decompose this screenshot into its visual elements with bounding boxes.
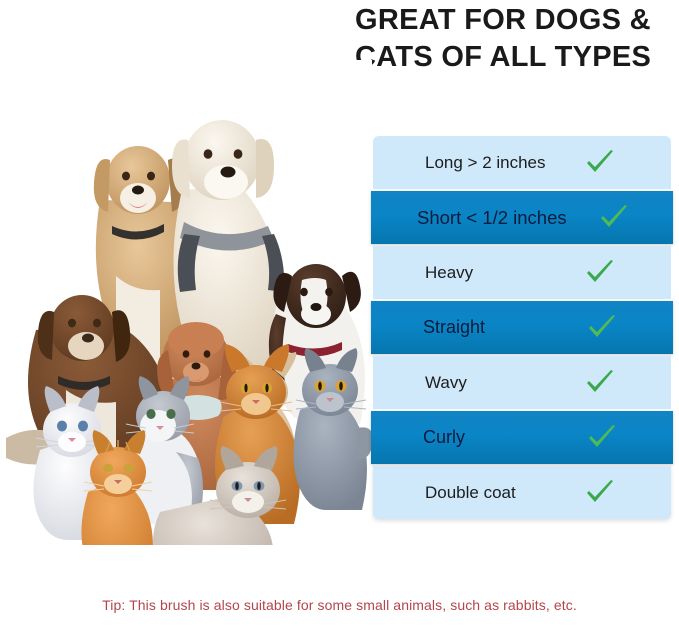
row-label: Straight — [423, 317, 485, 338]
check-icon — [585, 370, 615, 396]
row-label: Heavy — [425, 263, 473, 283]
page-title: GREAT FOR DOGS & CATS OF ALL TYPES — [355, 2, 675, 76]
check-icon — [587, 425, 617, 451]
coat-type-table: Long > 2 inches Short < 1/2 inches Heavy… — [371, 136, 673, 526]
check-icon — [585, 260, 615, 286]
row-label: Curly — [423, 427, 465, 448]
row-label: Long > 2 inches — [425, 153, 546, 173]
check-icon — [585, 480, 615, 506]
row-label: Wavy — [425, 373, 467, 393]
animal-group-photo — [0, 60, 372, 545]
table-row[interactable]: Heavy — [373, 246, 671, 299]
table-row[interactable]: Curly — [371, 411, 673, 464]
animal-group-illustration — [0, 60, 372, 545]
tip-text: Tip: This brush is also suitable for som… — [0, 597, 679, 613]
table-row[interactable]: Wavy — [373, 356, 671, 409]
table-row[interactable]: Double coat — [373, 466, 671, 519]
row-label: Double coat — [425, 483, 516, 503]
check-icon — [599, 205, 629, 231]
table-row[interactable]: Long > 2 inches — [373, 136, 671, 189]
check-icon — [585, 150, 615, 176]
table-row[interactable]: Short < 1/2 inches — [371, 191, 673, 244]
row-label: Short < 1/2 inches — [417, 207, 567, 229]
check-icon — [587, 315, 617, 341]
table-row[interactable]: Straight — [371, 301, 673, 354]
